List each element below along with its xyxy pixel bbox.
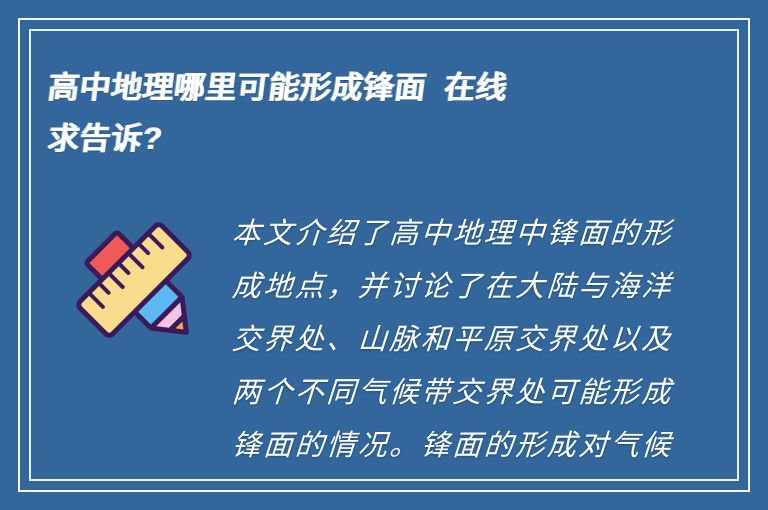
summary-line: 两个不同气候带交界处可能形成: [230, 367, 654, 420]
summary-line: 交界处、山脉和平原交界处以及: [230, 314, 654, 367]
title-line-2: 求告诉?: [45, 113, 691, 164]
ruler-and-pencil-icon: [66, 212, 202, 348]
summary-line: 成地点，并讨论了在大陆与海洋: [230, 261, 654, 314]
summary-line: 本文介绍了高中地理中锋面的形: [230, 208, 654, 261]
article-summary: 本文介绍了高中地理中锋面的形 成地点，并讨论了在大陆与海洋 交界处、山脉和平原交…: [232, 208, 652, 473]
page-title: 高中地理哪里可能形成锋面 在线 求告诉?: [48, 62, 688, 164]
summary-line: 锋面的情况。锋面的形成对气候: [230, 420, 654, 473]
poster-card: 高中地理哪里可能形成锋面 在线 求告诉?: [0, 0, 768, 510]
title-line-1: 高中地理哪里可能形成锋面 在线: [45, 62, 691, 113]
